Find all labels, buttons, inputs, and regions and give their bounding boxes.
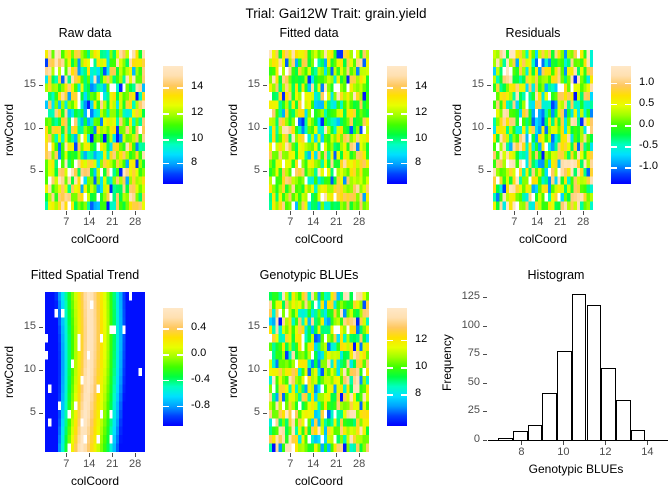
fitted-data-x-tick: 14: [303, 216, 323, 228]
histogram-y-tickmark: [483, 326, 487, 327]
raw-data-y-tickmark: [39, 85, 43, 86]
raw-data-key-label: 12: [191, 106, 203, 118]
plot-page: { "title": "Trial: Gai12W Trait: grain.y…: [0, 0, 672, 480]
residuals-key-tickmark: [625, 104, 631, 106]
fitted-data-y-tick: 15: [246, 78, 260, 90]
fitted-spatial-trend-y-tick: 5: [22, 406, 36, 418]
histogram-x-tick: 14: [637, 446, 657, 458]
residuals-x-tickmark: [560, 211, 561, 215]
raw-data-y-tickmark: [39, 128, 43, 129]
raw-data-colour-ramp: [163, 66, 183, 184]
raw-data-key-tickmark: [163, 113, 169, 115]
fitted-data-key-tickmark: [401, 139, 407, 141]
histogram-bar: [542, 393, 557, 440]
genotypic-blues-key-label: 12: [415, 333, 427, 345]
fitted-spatial-trend-x-tick: 14: [79, 458, 99, 470]
fitted-spatial-trend-heatmap: [45, 292, 145, 452]
fitted-data-key-label: 10: [415, 132, 427, 144]
genotypic-blues-colour-key: [387, 308, 407, 426]
histogram-x-tick: 8: [511, 446, 531, 458]
histogram-y-tickmark: [483, 383, 487, 384]
histogram-bar: [587, 305, 602, 440]
fitted-data-key-label: 8: [415, 156, 421, 168]
raw-data-key-label: 8: [191, 156, 197, 168]
genotypic-blues-key-tickmark: [387, 367, 393, 369]
fitted-data-heatmap: [269, 50, 369, 210]
raw-data-key-tickmark: [163, 87, 169, 89]
residuals-key-tickmark: [611, 167, 617, 169]
residuals-x-axis-label: colCoord: [493, 232, 593, 246]
histogram-bar: [513, 431, 528, 440]
fitted-data-x-tickmark: [313, 211, 314, 215]
residuals-key-label: -1.0: [639, 160, 658, 172]
fitted-data-key-tickmark: [387, 87, 393, 89]
genotypic-blues-y-tick: 15: [246, 320, 260, 332]
raw-data-x-tick: 7: [56, 216, 76, 228]
fitted-spatial-trend-colour-ramp: [163, 308, 183, 426]
histogram-x-tickmark: [521, 441, 522, 445]
histogram-y-tick: 50: [450, 376, 480, 388]
histogram-bar: [572, 294, 587, 440]
fitted-data-key-tickmark: [401, 113, 407, 115]
genotypic-blues-key-tickmark: [401, 340, 407, 342]
fitted-spatial-trend-panel: Fitted Spatial TrendrowCoord510157142128…: [0, 268, 224, 480]
raw-data-key-label: 10: [191, 132, 203, 144]
histogram-x-tickmark: [605, 441, 606, 445]
genotypic-blues-x-axis-label: colCoord: [269, 474, 369, 488]
fitted-data-y-tick: 10: [246, 121, 260, 133]
residuals-y-tickmark: [487, 128, 491, 129]
fitted-data-y-tickmark: [263, 171, 267, 172]
histogram-bar: [557, 351, 572, 440]
fitted-spatial-trend-key-label: 0.4: [191, 321, 206, 333]
genotypic-blues-key-tickmark: [401, 394, 407, 396]
fitted-spatial-trend-y-axis-label: rowCoord: [2, 322, 16, 422]
fitted-data-y-tick: 5: [246, 164, 260, 176]
fitted-data-y-axis-label: rowCoord: [226, 80, 240, 180]
genotypic-blues-x-tickmark: [313, 453, 314, 457]
residuals-y-tick: 10: [470, 121, 484, 133]
raw-data-key-tickmark: [177, 139, 183, 141]
residuals-x-tick: 14: [527, 216, 547, 228]
raw-data-x-tickmark: [135, 211, 136, 215]
raw-data-x-axis-label: colCoord: [45, 232, 145, 246]
fitted-data-x-tick: 28: [349, 216, 369, 228]
fitted-spatial-trend-key-tickmark: [163, 406, 169, 408]
genotypic-blues-y-tick: 5: [246, 406, 260, 418]
fitted-spatial-trend-x-tickmark: [135, 453, 136, 457]
genotypic-blues-x-tickmark: [359, 453, 360, 457]
raw-data-y-tickmark: [39, 171, 43, 172]
histogram-bar: [616, 400, 631, 440]
fitted-data-x-tickmark: [359, 211, 360, 215]
raw-data-key-label: 14: [191, 80, 203, 92]
histogram-bar: [601, 368, 616, 440]
raw-data-x-tick: 28: [125, 216, 145, 228]
residuals-key-label: 0.0: [639, 118, 654, 130]
raw-data-x-tickmark: [112, 211, 113, 215]
histogram-y-axis-label: Frequency: [440, 318, 454, 408]
raw-data-key-tickmark: [177, 113, 183, 115]
fitted-data-x-tick: 21: [326, 216, 346, 228]
residuals-x-tick: 7: [504, 216, 524, 228]
genotypic-blues-y-tick: 10: [246, 363, 260, 375]
fitted-spatial-trend-key-tickmark: [177, 406, 183, 408]
residuals-x-tick: 21: [550, 216, 570, 228]
raw-data-colour-key: [163, 66, 183, 184]
residuals-key-label: 1.0: [639, 76, 654, 88]
genotypic-blues-heatmap: [269, 292, 369, 452]
raw-data-x-tick: 14: [79, 216, 99, 228]
raw-data-panel: Raw datarowCoord510157142128colCoord1412…: [0, 26, 224, 238]
genotypic-blues-y-axis-label: rowCoord: [226, 322, 240, 422]
fitted-data-colour-ramp: [387, 66, 407, 184]
raw-data-y-tick: 15: [22, 78, 36, 90]
fitted-spatial-trend-colour-key: [163, 308, 183, 426]
raw-data-key-tickmark: [177, 87, 183, 89]
page-title: Trial: Gai12W Trait: grain.yield: [0, 6, 672, 21]
residuals-x-tickmark: [514, 211, 515, 215]
fitted-spatial-trend-x-tickmark: [112, 453, 113, 457]
residuals-key-tickmark: [625, 146, 631, 148]
fitted-data-y-tickmark: [263, 85, 267, 86]
fitted-data-title: Fitted data: [224, 26, 394, 40]
genotypic-blues-x-tick: 28: [349, 458, 369, 470]
residuals-key-tickmark: [611, 125, 617, 127]
raw-data-title: Raw data: [0, 26, 170, 40]
residuals-key-tickmark: [611, 83, 617, 85]
genotypic-blues-y-tickmark: [263, 370, 267, 371]
genotypic-blues-x-tickmark: [336, 453, 337, 457]
fitted-data-key-tickmark: [387, 113, 393, 115]
genotypic-blues-x-tick: 21: [326, 458, 346, 470]
histogram-x-tick: 10: [553, 446, 573, 458]
fitted-data-key-tickmark: [387, 139, 393, 141]
fitted-spatial-trend-key-tickmark: [177, 380, 183, 382]
histogram-x-tick: 12: [595, 446, 615, 458]
fitted-spatial-trend-key-label: -0.8: [191, 399, 210, 411]
raw-data-key-tickmark: [177, 163, 183, 165]
fitted-data-key-tickmark: [401, 163, 407, 165]
residuals-y-tick: 5: [470, 164, 484, 176]
histogram-y-tick: 75: [450, 347, 480, 359]
histogram-x-tickmark: [563, 441, 564, 445]
genotypic-blues-title: Genotypic BLUEs: [224, 268, 394, 282]
fitted-data-y-tickmark: [263, 128, 267, 129]
residuals-y-tickmark: [487, 85, 491, 86]
residuals-heatmap: [493, 50, 593, 210]
raw-data-key-tickmark: [163, 163, 169, 165]
fitted-spatial-trend-key-label: -0.4: [191, 373, 210, 385]
genotypic-blues-x-tick: 14: [303, 458, 323, 470]
genotypic-blues-key-tickmark: [401, 367, 407, 369]
fitted-data-panel: Fitted datarowCoord510157142128colCoord1…: [224, 26, 448, 238]
genotypic-blues-x-tick: 7: [280, 458, 300, 470]
residuals-key-tickmark: [625, 83, 631, 85]
genotypic-blues-y-tickmark: [263, 327, 267, 328]
histogram-title: Histogram: [440, 268, 672, 282]
genotypic-blues-key-label: 10: [415, 360, 427, 372]
raw-data-x-tickmark: [89, 211, 90, 215]
histogram-bar: [498, 438, 513, 440]
fitted-data-key-label: 12: [415, 106, 427, 118]
raw-data-y-tick: 5: [22, 164, 36, 176]
fitted-spatial-trend-y-tickmark: [39, 327, 43, 328]
fitted-data-x-tickmark: [336, 211, 337, 215]
residuals-colour-key: [611, 66, 631, 184]
fitted-spatial-trend-x-tick: 21: [102, 458, 122, 470]
fitted-spatial-trend-key-tickmark: [163, 354, 169, 356]
histogram-y-tickmark: [483, 354, 487, 355]
histogram-y-tickmark: [483, 440, 487, 441]
residuals-key-label: 0.5: [639, 97, 654, 109]
fitted-spatial-trend-x-tickmark: [66, 453, 67, 457]
histogram-y-tick: 25: [450, 404, 480, 416]
residuals-y-axis-label: rowCoord: [450, 80, 464, 180]
fitted-spatial-trend-key-tickmark: [177, 354, 183, 356]
histogram-x-axis-line: [488, 440, 668, 441]
genotypic-blues-key-tickmark: [387, 340, 393, 342]
raw-data-heatmap: [45, 50, 145, 210]
genotypic-blues-x-tickmark: [290, 453, 291, 457]
histogram-y-tick: 0: [450, 433, 480, 445]
residuals-key-tickmark: [625, 125, 631, 127]
fitted-spatial-trend-key-tickmark: [163, 380, 169, 382]
fitted-spatial-trend-x-tick: 28: [125, 458, 145, 470]
fitted-data-key-label: 14: [415, 80, 427, 92]
residuals-key-label: -0.5: [639, 139, 658, 151]
genotypic-blues-key-tickmark: [387, 394, 393, 396]
fitted-spatial-trend-key-label: 0.0: [191, 347, 206, 359]
fitted-spatial-trend-y-tick: 15: [22, 320, 36, 332]
residuals-y-tickmark: [487, 171, 491, 172]
histogram-x-tickmark: [647, 441, 648, 445]
fitted-spatial-trend-y-tickmark: [39, 370, 43, 371]
fitted-data-x-tick: 7: [280, 216, 300, 228]
fitted-spatial-trend-y-tickmark: [39, 413, 43, 414]
fitted-spatial-trend-key-tickmark: [177, 328, 183, 330]
raw-data-y-tick: 10: [22, 121, 36, 133]
residuals-title: Residuals: [448, 26, 618, 40]
genotypic-blues-panel: Genotypic BLUEsrowCoord510157142128colCo…: [224, 268, 448, 480]
fitted-data-colour-key: [387, 66, 407, 184]
histogram-y-tickmark: [483, 297, 487, 298]
histogram-x-axis-label: Genotypic BLUEs: [492, 462, 660, 476]
raw-data-x-tick: 21: [102, 216, 122, 228]
raw-data-x-tickmark: [66, 211, 67, 215]
residuals-key-tickmark: [611, 104, 617, 106]
raw-data-key-tickmark: [163, 139, 169, 141]
fitted-data-x-axis-label: colCoord: [269, 232, 369, 246]
histogram-panel: Histogram 02550751001258101214Genotypic …: [440, 268, 672, 480]
fitted-spatial-trend-title: Fitted Spatial Trend: [0, 268, 170, 282]
residuals-key-tickmark: [625, 167, 631, 169]
fitted-spatial-trend-y-tick: 10: [22, 363, 36, 375]
histogram-y-tick: 100: [450, 319, 480, 331]
residuals-panel: ResidualsrowCoord510157142128colCoord1.0…: [448, 26, 672, 238]
fitted-data-key-tickmark: [401, 87, 407, 89]
residuals-x-tickmark: [537, 211, 538, 215]
genotypic-blues-y-tickmark: [263, 413, 267, 414]
histogram-bar: [631, 430, 646, 440]
histogram-y-tickmark: [483, 411, 487, 412]
fitted-spatial-trend-key-tickmark: [163, 328, 169, 330]
fitted-spatial-trend-x-tick: 7: [56, 458, 76, 470]
residuals-key-tickmark: [611, 146, 617, 148]
residuals-x-tick: 28: [573, 216, 593, 228]
raw-data-y-axis-label: rowCoord: [2, 80, 16, 180]
fitted-data-key-tickmark: [387, 163, 393, 165]
fitted-data-x-tickmark: [290, 211, 291, 215]
genotypic-blues-key-label: 8: [415, 387, 421, 399]
residuals-y-tick: 15: [470, 78, 484, 90]
fitted-spatial-trend-x-axis-label: colCoord: [45, 474, 145, 488]
histogram-bar: [528, 425, 543, 440]
fitted-spatial-trend-x-tickmark: [89, 453, 90, 457]
residuals-x-tickmark: [583, 211, 584, 215]
histogram-y-tick: 125: [450, 290, 480, 302]
